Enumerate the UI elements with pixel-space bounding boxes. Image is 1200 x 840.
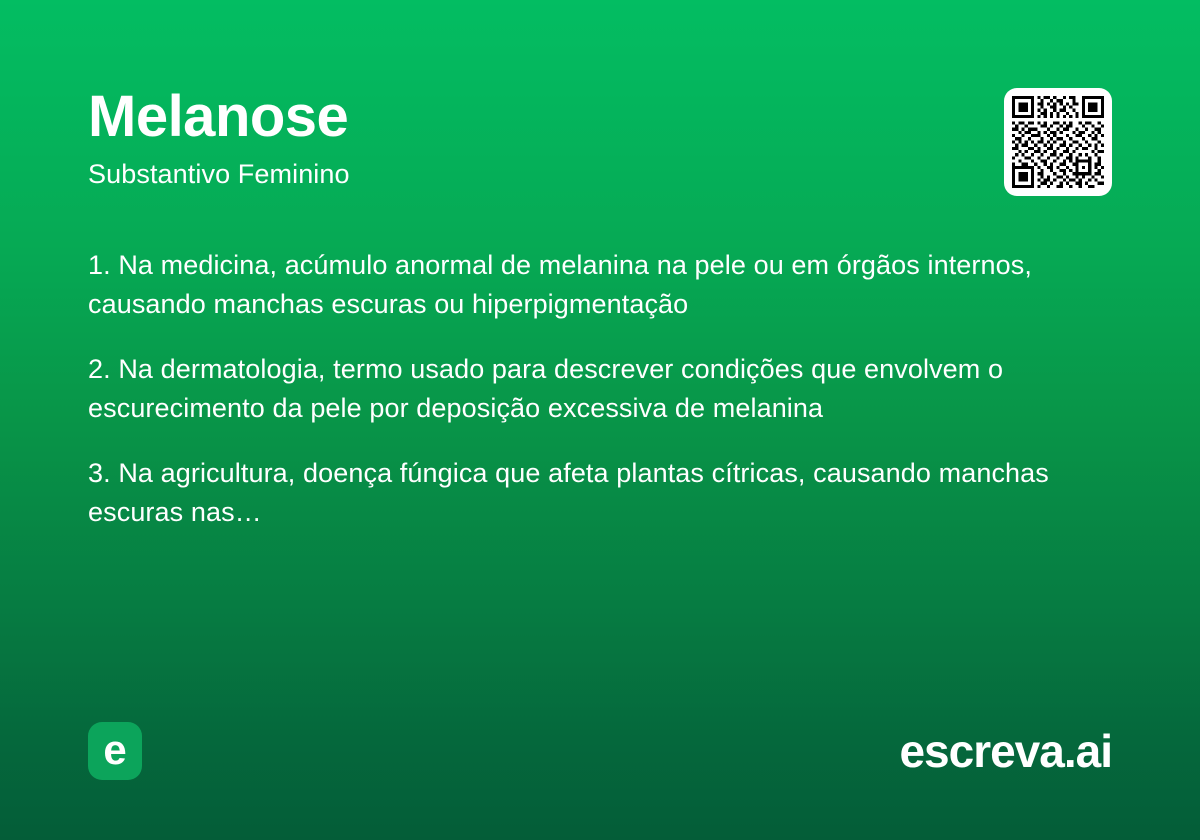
headings-group: Melanose Substantivo Feminino — [88, 88, 350, 190]
definitions-list: 1. Na medicina, acúmulo anormal de melan… — [88, 246, 1098, 532]
word-class-label: Substantivo Feminino — [88, 160, 350, 190]
brand-logo-mark: e — [88, 722, 142, 780]
brand-wordmark: escreva.ai — [899, 728, 1112, 774]
definition-card: Melanose Substantivo Feminino — [0, 0, 1200, 840]
card-footer: e escreva.ai — [88, 720, 1112, 782]
definition-item: 2. Na dermatologia, termo usado para des… — [88, 350, 1098, 428]
qr-code-card[interactable] — [1004, 88, 1112, 196]
brand-logo-letter: e — [103, 729, 126, 771]
definition-item: 3. Na agricultura, doença fúngica que af… — [88, 454, 1098, 532]
definition-item: 1. Na medicina, acúmulo anormal de melan… — [88, 246, 1098, 324]
page-title: Melanose — [88, 88, 350, 146]
qr-code-icon — [1012, 96, 1104, 188]
card-header: Melanose Substantivo Feminino — [88, 88, 1112, 196]
